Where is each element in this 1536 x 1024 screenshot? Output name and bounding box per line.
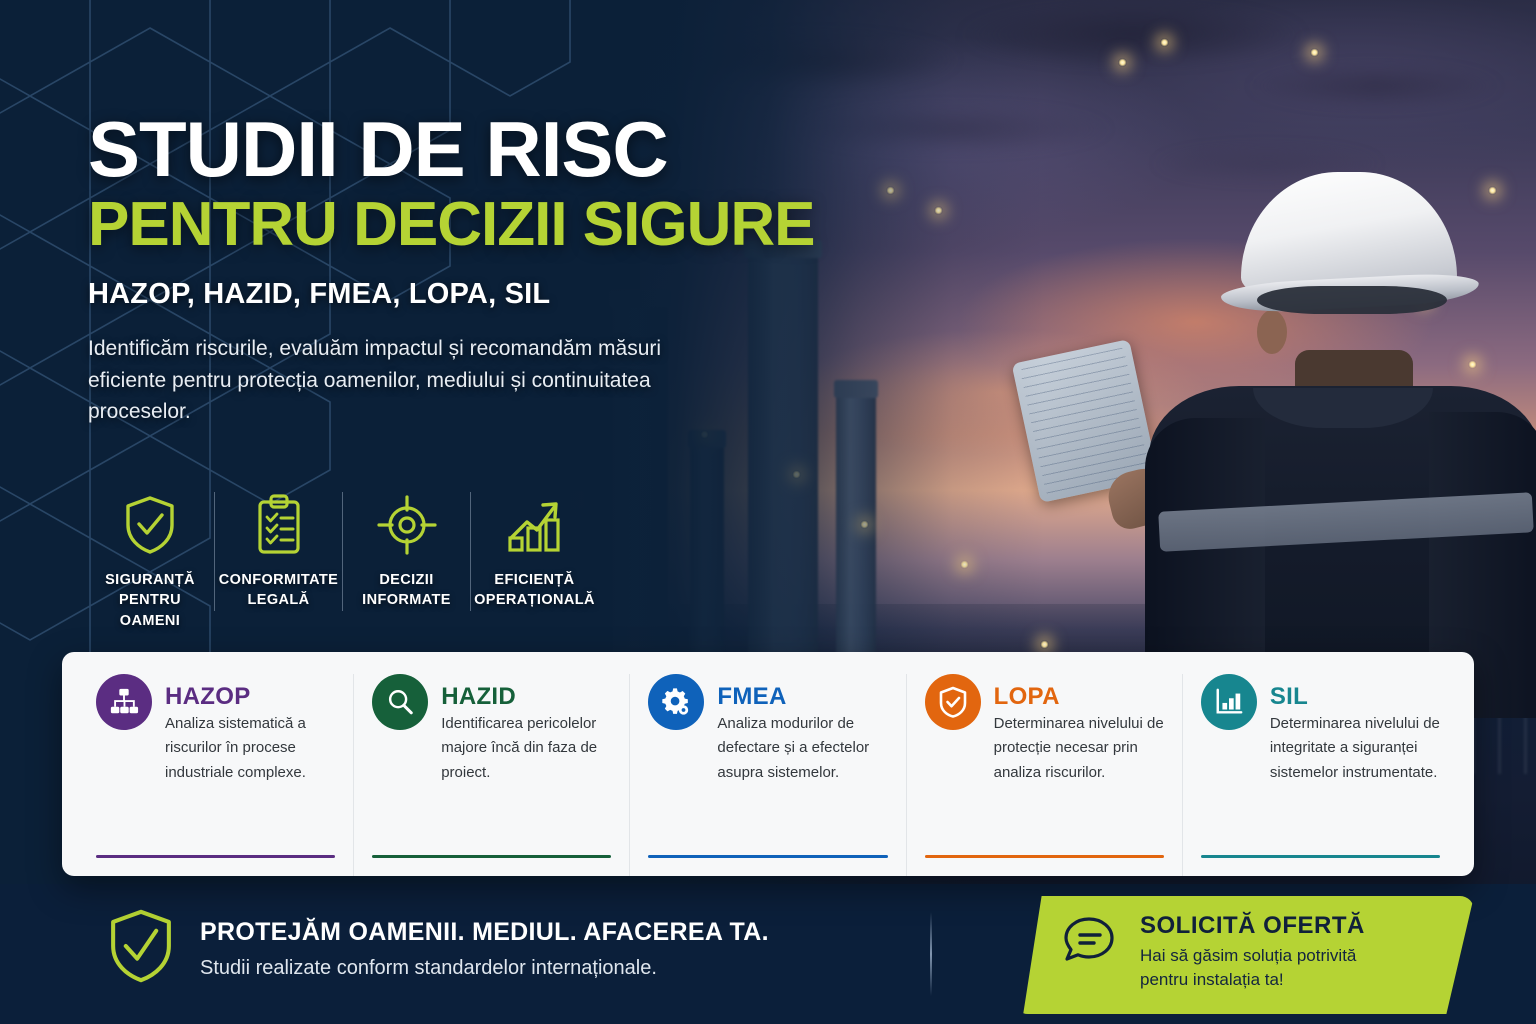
hero-subtitle: HAZOP, HAZID, FMEA, LOPA, SIL <box>88 278 728 311</box>
card-accent-rule <box>648 855 887 859</box>
shield-check-icon <box>124 492 176 558</box>
footer-subline: Studii realizate conform standardelor in… <box>200 957 769 980</box>
feature-label: CONFORMITATE LEGALĂ <box>219 570 338 611</box>
cta-content: SOLICITĂ OFERTĂ Hai să găsim soluția pot… <box>1058 912 1365 992</box>
feature-label-line2: PENTRU OAMENI <box>119 592 181 628</box>
card-accent-rule <box>96 855 335 859</box>
cta-text-block: SOLICITĂ OFERTĂ Hai să găsim soluția pot… <box>1140 912 1365 992</box>
hero-section: STUDII DE RISC PENTRU DECIZII SIGURE HAZ… <box>88 112 728 428</box>
card-accent-rule <box>372 855 611 859</box>
feature-label-line1: CONFORMITATE <box>219 572 338 588</box>
card-description: Determinarea nivelului de protecție nece… <box>925 712 1164 785</box>
feature-strip: SIGURANȚĂ PENTRU OAMENI CONFORMITATE <box>86 492 598 631</box>
hero-lead-paragraph: Identificăm riscurile, evaluăm impactul … <box>88 333 688 428</box>
card-lopa[interactable]: LOPA Determinarea nivelului de protecție… <box>906 674 1182 876</box>
cta-subtext-line2: pentru instalația ta! <box>1140 970 1284 989</box>
feature-label-line2: INFORMATE <box>362 592 451 608</box>
card-description: Analiza modurilor de defectare și a efec… <box>648 712 887 785</box>
chat-bubble-icon <box>1058 912 1120 979</box>
card-description: Identificarea pericolelor majore încă di… <box>372 712 611 785</box>
feature-item-conformitate: CONFORMITATE LEGALĂ <box>214 492 342 611</box>
feature-item-siguranta: SIGURANȚĂ PENTRU OAMENI <box>86 492 214 631</box>
cta-subtext: Hai să găsim soluția potrivită pentru in… <box>1140 944 1365 992</box>
card-title: HAZID <box>441 683 516 711</box>
feature-label-line1: EFICIENȚĂ <box>494 572 574 588</box>
shield-check-outline-icon <box>108 908 174 989</box>
footer-divider <box>930 912 932 996</box>
feature-label-line1: SIGURANȚĂ <box>105 572 195 588</box>
card-hazid[interactable]: HAZID Identificarea pericolelor majore î… <box>353 674 629 876</box>
footer-headline: PROTEJĂM OAMENII. MEDIUL. AFACEREA TA. <box>200 918 769 947</box>
methodology-cards-panel: HAZOP Analiza sistematică a riscurilor î… <box>62 652 1474 876</box>
cta-subtext-line1: Hai să găsim soluția potrivită <box>1140 946 1356 965</box>
footer-text-block: PROTEJĂM OAMENII. MEDIUL. AFACEREA TA. S… <box>200 918 769 980</box>
feature-item-decizii: DECIZII INFORMATE <box>342 492 470 611</box>
cta-title: SOLICITĂ OFERTĂ <box>1140 912 1365 940</box>
hero-title-line2: PENTRU DECIZII SIGURE <box>88 193 728 256</box>
card-title: FMEA <box>717 683 786 711</box>
card-description: Analiza sistematică a riscurilor în proc… <box>96 712 335 785</box>
card-hazop[interactable]: HAZOP Analiza sistematică a riscurilor î… <box>78 674 353 876</box>
footer-message: PROTEJĂM OAMENII. MEDIUL. AFACEREA TA. S… <box>108 908 769 989</box>
clipboard-checklist-icon <box>254 492 304 558</box>
feature-label: EFICIENȚĂ OPERAȚIONALĂ <box>474 570 595 611</box>
card-title: LOPA <box>994 683 1060 711</box>
card-accent-rule <box>925 855 1164 859</box>
feature-label: SIGURANȚĂ PENTRU OAMENI <box>94 570 206 631</box>
card-fmea[interactable]: FMEA Analiza modurilor de defectare și a… <box>629 674 905 876</box>
card-description: Determinarea nivelului de integritate a … <box>1201 712 1440 785</box>
card-sil[interactable]: SIL Determinarea nivelului de integritat… <box>1182 674 1458 876</box>
hero-title-line1: STUDII DE RISC <box>88 112 728 187</box>
card-title: HAZOP <box>165 683 251 711</box>
feature-label-line2: LEGALĂ <box>248 592 310 608</box>
feature-label: DECIZII INFORMATE <box>362 570 451 611</box>
feature-item-eficienta: EFICIENȚĂ OPERAȚIONALĂ <box>470 492 598 611</box>
feature-label-line2: OPERAȚIONALĂ <box>474 592 595 608</box>
target-icon <box>377 492 437 558</box>
card-accent-rule <box>1201 855 1440 859</box>
infographic-banner: STUDII DE RISC PENTRU DECIZII SIGURE HAZ… <box>0 0 1536 1024</box>
card-title: SIL <box>1270 683 1308 711</box>
cta-solicita-oferta[interactable]: SOLICITĂ OFERTĂ Hai să găsim soluția pot… <box>1014 896 1474 1014</box>
growth-chart-icon <box>505 492 565 558</box>
feature-label-line1: DECIZII <box>379 572 433 588</box>
